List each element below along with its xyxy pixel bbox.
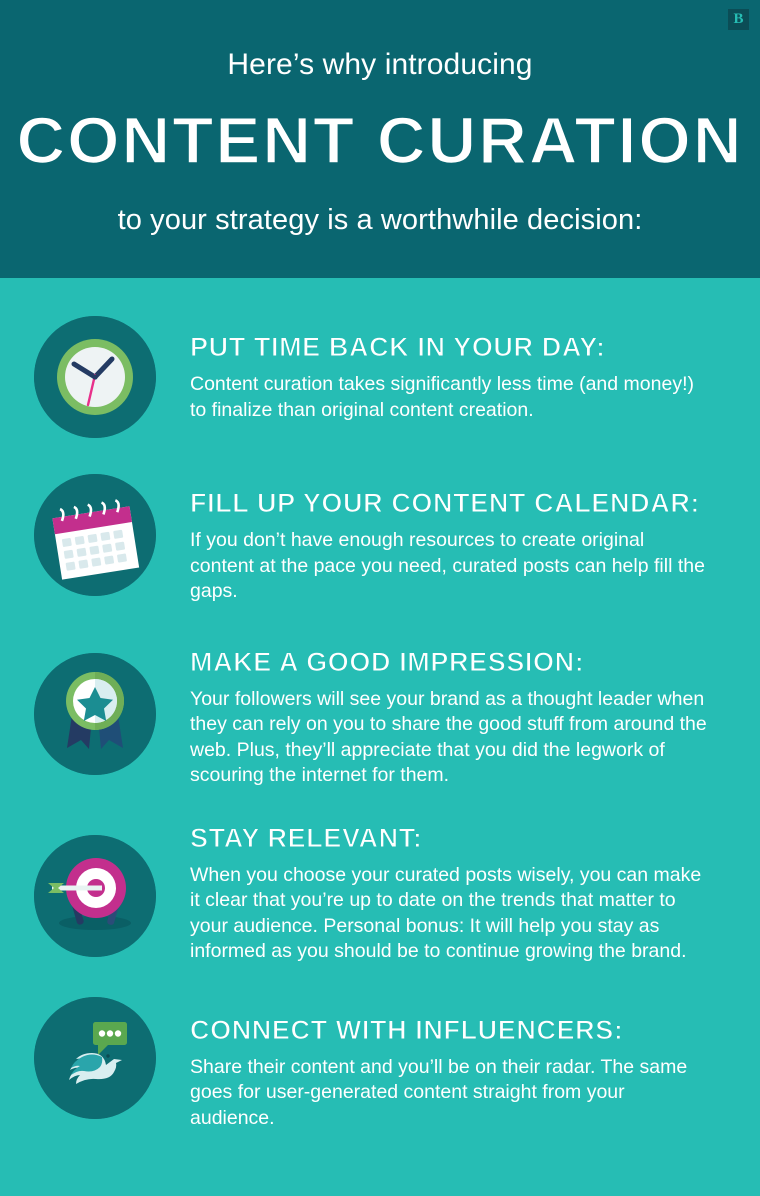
list-item: MAKE A GOOD IMPRESSION: Your followers w… bbox=[0, 645, 760, 789]
section-heading-text: CONNECT WITH INFLUENCERS: bbox=[190, 1015, 623, 1045]
section-heading: STAY RELEVANT: bbox=[190, 823, 734, 853]
text-container: FILL UP YOUR CONTENT CALENDAR: If you do… bbox=[190, 474, 760, 605]
section-heading: FILL UP YOUR CONTENT CALENDAR: bbox=[190, 488, 734, 518]
section-heading: CONNECT WITH INFLUENCERS: bbox=[190, 1015, 734, 1045]
section-heading-text: FILL UP YOUR CONTENT CALENDAR: bbox=[190, 488, 700, 518]
benefits-list: PUT TIME BACK IN YOUR DAY: Content curat… bbox=[0, 316, 760, 1131]
clock-icon bbox=[34, 316, 156, 438]
section-body: If you don’t have enough resources to cr… bbox=[190, 528, 710, 605]
page-title-text: CONTENT CURATION bbox=[16, 104, 743, 176]
icon-container bbox=[0, 823, 190, 957]
list-item: CONNECT WITH INFLUENCERS: Share their co… bbox=[0, 997, 760, 1132]
section-heading-text: STAY RELEVANT: bbox=[190, 823, 422, 853]
header-eyebrow-text: Here’s why introducing bbox=[0, 48, 760, 82]
icon-container bbox=[0, 645, 190, 775]
list-item: FILL UP YOUR CONTENT CALENDAR: If you do… bbox=[0, 474, 760, 605]
section-body: Content curation takes significantly les… bbox=[190, 372, 710, 423]
icon-container bbox=[0, 997, 190, 1119]
infographic-page: B Here’s why introducing CONTENT CURATIO… bbox=[0, 0, 760, 1196]
calendar-icon bbox=[34, 474, 156, 596]
bird-speech-bubble-icon bbox=[34, 997, 156, 1119]
header-tagline-text: to your strategy is a worthwhile decisio… bbox=[0, 203, 760, 237]
text-container: PUT TIME BACK IN YOUR DAY: Content curat… bbox=[190, 316, 760, 423]
section-body: Share their content and you’ll be on the… bbox=[190, 1055, 710, 1132]
section-heading: PUT TIME BACK IN YOUR DAY: bbox=[190, 332, 734, 362]
section-body: Your followers will see your brand as a … bbox=[190, 687, 710, 789]
icon-container bbox=[0, 474, 190, 596]
section-heading: MAKE A GOOD IMPRESSION: bbox=[190, 647, 734, 677]
target-arrow-icon bbox=[34, 835, 156, 957]
text-container: CONNECT WITH INFLUENCERS: Share their co… bbox=[190, 997, 760, 1132]
section-body: When you choose your curated posts wisel… bbox=[190, 863, 710, 965]
list-item: PUT TIME BACK IN YOUR DAY: Content curat… bbox=[0, 316, 760, 438]
brand-badge-letter: B bbox=[733, 12, 743, 27]
brand-b-badge-icon[interactable]: B bbox=[728, 9, 749, 30]
text-container: STAY RELEVANT: When you choose your cura… bbox=[190, 823, 760, 965]
text-container: MAKE A GOOD IMPRESSION: Your followers w… bbox=[190, 645, 760, 789]
page-title: CONTENT CURATION bbox=[0, 104, 760, 176]
header-banner: B Here’s why introducing CONTENT CURATIO… bbox=[0, 0, 760, 278]
icon-container bbox=[0, 316, 190, 438]
award-ribbon-icon bbox=[34, 653, 156, 775]
section-heading-text: MAKE A GOOD IMPRESSION: bbox=[190, 647, 584, 677]
section-heading-text: PUT TIME BACK IN YOUR DAY: bbox=[190, 332, 606, 362]
list-item: STAY RELEVANT: When you choose your cura… bbox=[0, 823, 760, 965]
